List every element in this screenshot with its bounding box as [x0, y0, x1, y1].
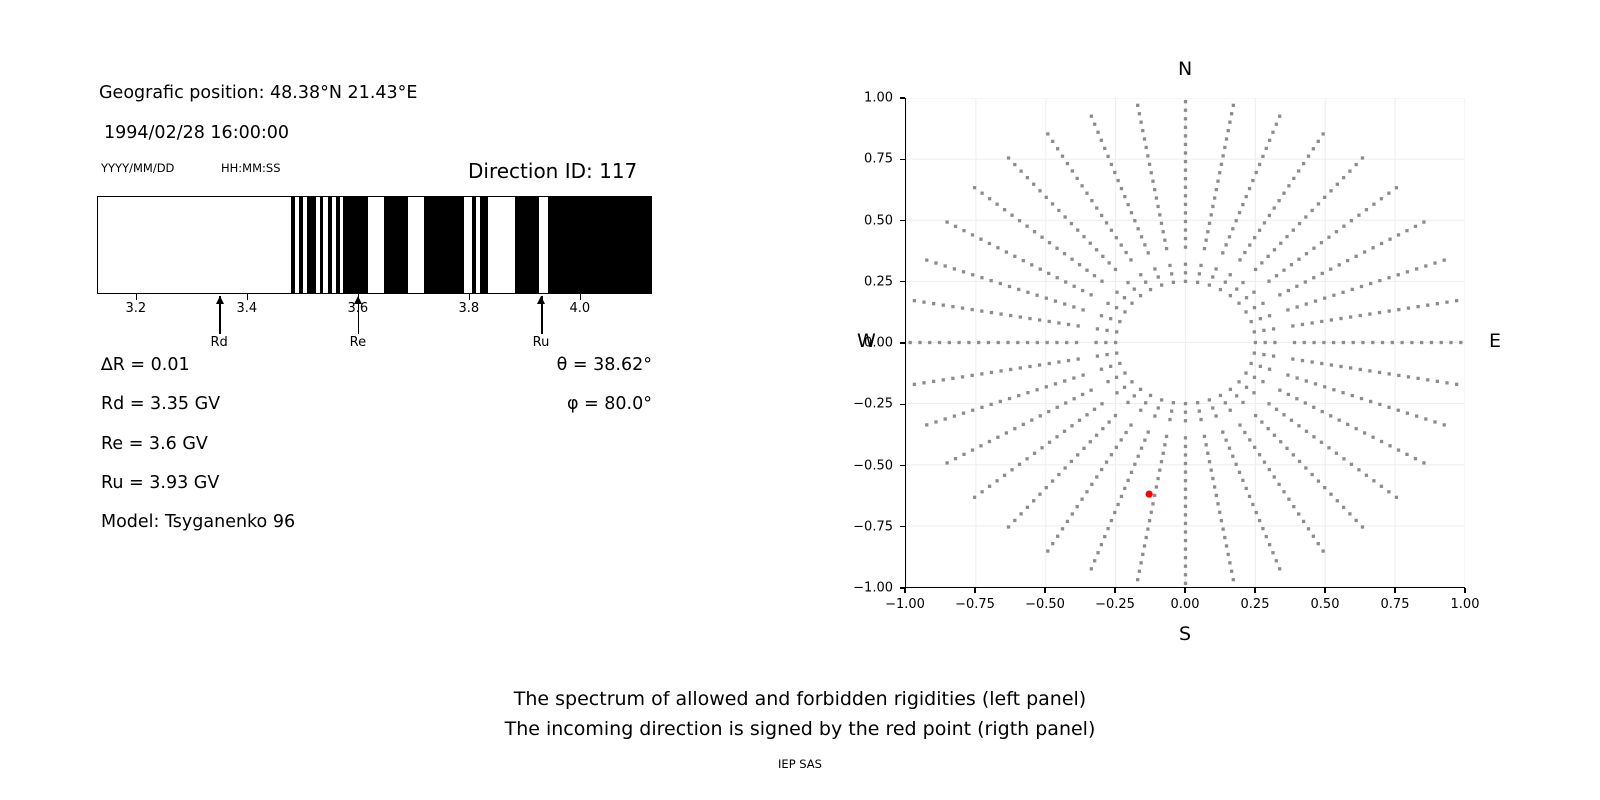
- direction-point: [1005, 250, 1008, 253]
- direction-point: [1100, 214, 1103, 217]
- direction-point: [1063, 430, 1066, 433]
- direction-point: [1115, 351, 1118, 354]
- direction-point: [1327, 236, 1330, 239]
- direction-point: [1388, 444, 1391, 447]
- direction-point: [1248, 243, 1251, 246]
- forbidden-band: [472, 196, 476, 294]
- direction-point: [1260, 420, 1263, 423]
- direction-point: [1258, 229, 1261, 232]
- direction-point: [1146, 154, 1149, 157]
- direction-point: [1320, 441, 1323, 444]
- direction-point: [1275, 274, 1278, 277]
- direction-point: [1228, 561, 1231, 564]
- direction-point: [1066, 520, 1069, 523]
- direction-point: [999, 369, 1002, 372]
- direction-point: [1013, 427, 1016, 430]
- x-axis-tick-label: 0.75: [1381, 597, 1410, 612]
- direction-point: [1140, 447, 1143, 450]
- direction-point: [1369, 282, 1372, 285]
- direction-point: [989, 279, 992, 282]
- direction-point: [1322, 132, 1325, 135]
- direction-point: [1397, 409, 1400, 412]
- direction-point: [1184, 453, 1187, 456]
- direction-point: [1172, 401, 1175, 404]
- direction-point: [1198, 272, 1201, 275]
- spectrum-axis-tick-label: 3.4: [237, 301, 258, 316]
- direction-point: [1245, 195, 1248, 198]
- direction-point: [999, 312, 1002, 315]
- direction-point: [1317, 140, 1320, 143]
- direction-point: [1305, 302, 1308, 305]
- direction-point: [932, 380, 935, 383]
- direction-point: [1221, 527, 1224, 530]
- direction-point: [1184, 134, 1187, 137]
- direction-point: [1406, 270, 1409, 273]
- direction-point: [1133, 219, 1136, 222]
- direction-point: [1136, 578, 1139, 581]
- direction-point: [1103, 535, 1106, 538]
- direction-point: [1139, 121, 1142, 124]
- direction-point: [1116, 503, 1119, 506]
- direction-point: [1445, 301, 1448, 304]
- direction-point: [1144, 281, 1147, 284]
- direction-point: [1302, 162, 1305, 165]
- direction-point: [1219, 394, 1222, 397]
- direction-point: [1151, 502, 1154, 505]
- direction-point: [1355, 427, 1358, 430]
- direction-point: [1342, 176, 1345, 179]
- direction-point: [1225, 137, 1228, 140]
- direction-point: [1093, 123, 1096, 126]
- direction-point: [1130, 302, 1133, 305]
- direction-point: [1090, 199, 1093, 202]
- direction-point: [1310, 321, 1313, 324]
- spectrum-axis-tick-label: 3.2: [126, 301, 147, 316]
- direction-point: [1317, 542, 1320, 545]
- direction-point: [1017, 288, 1020, 291]
- direction-point: [1143, 544, 1146, 547]
- direction-point: [1245, 296, 1248, 299]
- direction-point: [1100, 139, 1103, 142]
- direction-point: [1290, 263, 1293, 266]
- direction-point: [1365, 474, 1368, 477]
- direction-point: [1095, 248, 1098, 251]
- direction-point: [1045, 486, 1048, 489]
- direction-point: [1032, 183, 1035, 186]
- direction-point: [1254, 414, 1257, 417]
- direction-point: [1124, 431, 1127, 434]
- spectrum-axis-tick-label: 4.0: [570, 301, 591, 316]
- direction-point: [1291, 357, 1294, 360]
- direction-point: [1304, 466, 1307, 469]
- direction-point: [1019, 366, 1022, 369]
- direction-point: [1046, 549, 1049, 552]
- direction-point: [1405, 229, 1408, 232]
- direction-point: [1282, 413, 1285, 416]
- direction-point: [1155, 485, 1158, 488]
- direction-point: [1388, 238, 1391, 241]
- direction-point: [1090, 483, 1093, 486]
- direction-point: [1223, 536, 1226, 539]
- direction-point: [1211, 205, 1214, 208]
- direction-point: [1151, 180, 1154, 183]
- direction-point: [922, 381, 925, 384]
- direction-point: [1341, 291, 1344, 294]
- direction-point: [1320, 320, 1323, 323]
- direction-point: [1290, 419, 1293, 422]
- x-axis-tick: [974, 588, 975, 593]
- direction-point: [1184, 573, 1187, 576]
- direction-point: [1332, 294, 1335, 297]
- x-axis-tick: [1464, 588, 1465, 593]
- direction-point: [1056, 276, 1059, 279]
- direction-point: [1329, 414, 1332, 417]
- direction-point: [1216, 502, 1219, 505]
- direction-point: [1009, 368, 1012, 371]
- direction-point: [1100, 280, 1103, 283]
- direction-point: [1039, 268, 1042, 271]
- direction-point: [1170, 409, 1173, 412]
- direction-point: [999, 400, 1002, 403]
- direction-point: [1066, 162, 1069, 165]
- y-axis-tick: [900, 526, 905, 527]
- direction-point: [1250, 320, 1253, 323]
- direction-point: [1147, 251, 1150, 254]
- direction-point: [1298, 460, 1301, 463]
- direction-point: [1022, 259, 1025, 262]
- direction-point: [980, 192, 983, 195]
- direction-point: [1268, 368, 1271, 371]
- direction-point: [1229, 294, 1232, 297]
- direction-point: [1208, 222, 1211, 225]
- direction-point: [1184, 263, 1187, 266]
- compass-label-east: E: [1489, 330, 1501, 352]
- direction-point: [1297, 512, 1300, 515]
- direction-point: [1184, 411, 1187, 414]
- direction-point: [962, 270, 965, 273]
- direction-point: [1067, 323, 1070, 326]
- direction-point: [1047, 272, 1050, 275]
- direction-point: [1263, 460, 1266, 463]
- direction-point: [1395, 186, 1398, 189]
- direction-point: [1237, 380, 1240, 383]
- direction-point: [1238, 471, 1241, 474]
- y-axis-tick-label: 0.75: [827, 152, 893, 167]
- direction-point: [1416, 377, 1419, 380]
- direction-point: [961, 375, 964, 378]
- direction-point: [1397, 233, 1400, 236]
- direction-point: [1080, 498, 1083, 501]
- direction-point: [987, 341, 990, 344]
- direction-point: [1388, 372, 1391, 375]
- marker-label: Ru: [533, 335, 550, 350]
- direction-point: [1235, 394, 1238, 397]
- direction-point: [1055, 435, 1058, 438]
- direction-point: [1415, 414, 1418, 417]
- direction-point: [1243, 251, 1246, 254]
- direction-point: [1055, 247, 1058, 250]
- direction-point: [1287, 184, 1290, 187]
- direction-point: [1168, 418, 1171, 421]
- direction-point: [1298, 222, 1301, 225]
- direction-point: [1139, 561, 1142, 564]
- direction-point: [1115, 391, 1118, 394]
- direction-point: [1071, 169, 1074, 172]
- direction-point: [1301, 359, 1304, 362]
- time-format-hint: HH:MM:SS: [221, 161, 281, 175]
- forbidden-band: [299, 196, 303, 294]
- direction-point: [1018, 463, 1021, 466]
- direction-point: [948, 341, 951, 344]
- param-theta: θ = 38.62°: [557, 355, 652, 375]
- direction-point: [1063, 252, 1066, 255]
- direction-point: [1238, 423, 1241, 426]
- direction-point: [1040, 446, 1043, 449]
- direction-point: [1339, 317, 1342, 320]
- direction-point: [1072, 376, 1075, 379]
- direction-point: [1252, 391, 1255, 394]
- direction-point: [1245, 386, 1248, 389]
- direction-point: [988, 242, 991, 245]
- direction-point: [1081, 373, 1084, 376]
- direction-point: [996, 436, 999, 439]
- direction-point: [1265, 147, 1268, 150]
- x-axis-tick: [1324, 588, 1325, 593]
- direction-point: [1081, 308, 1084, 311]
- direction-point: [1268, 214, 1271, 217]
- direction-point: [1118, 362, 1121, 365]
- direction-point: [1070, 460, 1073, 463]
- direction-point: [1198, 409, 1201, 412]
- direction-point: [1282, 490, 1285, 493]
- direction-point: [1003, 208, 1006, 211]
- direction-point: [1229, 388, 1232, 391]
- direction-point: [1107, 420, 1110, 423]
- direction-point: [1253, 351, 1256, 354]
- direction-point: [1026, 391, 1029, 394]
- direction-point: [1235, 463, 1238, 466]
- y-axis-tick: [900, 465, 905, 466]
- direction-point: [951, 305, 954, 308]
- y-axis-tick-label: −0.25: [827, 397, 893, 412]
- x-axis-tick-label: −0.25: [1095, 597, 1135, 612]
- direction-point: [1155, 196, 1158, 199]
- direction-point: [1095, 206, 1098, 209]
- direction-point: [1035, 294, 1038, 297]
- direction-point: [945, 220, 948, 223]
- direction-point: [1184, 194, 1187, 197]
- direction-point: [1321, 410, 1324, 413]
- direction-point: [1378, 311, 1381, 314]
- forbidden-band: [384, 196, 408, 294]
- direction-point: [962, 453, 965, 456]
- direction-point: [1184, 547, 1187, 550]
- direction-point: [1184, 402, 1187, 405]
- direction-point: [1368, 369, 1371, 372]
- direction-point: [1106, 155, 1109, 158]
- direction-point: [1275, 559, 1278, 562]
- direction-point: [1126, 479, 1129, 482]
- direction-point: [1262, 353, 1265, 356]
- direction-point: [1433, 420, 1436, 423]
- direction-point: [1089, 242, 1092, 245]
- direction-point: [1230, 112, 1233, 115]
- direction-point: [1013, 163, 1016, 166]
- arrow-up-icon: [537, 296, 545, 304]
- direction-point: [1073, 397, 1076, 400]
- direction-point: [1090, 567, 1093, 570]
- direction-point: [1033, 230, 1036, 233]
- direction-point: [1165, 435, 1168, 438]
- x-axis-tick: [904, 588, 905, 593]
- direction-point: [1115, 446, 1118, 449]
- direction-point: [1093, 559, 1096, 562]
- direction-point: [1459, 341, 1462, 344]
- direction-point: [967, 341, 970, 344]
- direction-point: [944, 264, 947, 267]
- forbidden-band: [320, 196, 324, 294]
- direction-point: [1136, 104, 1139, 107]
- direction-point: [1085, 413, 1088, 416]
- direction-point: [1160, 398, 1163, 401]
- direction-point: [1332, 341, 1335, 344]
- direction-point: [1157, 406, 1160, 409]
- direction-point: [1311, 473, 1314, 476]
- direction-point: [1346, 423, 1349, 426]
- direction-point: [1312, 406, 1315, 409]
- direction-point: [932, 302, 935, 305]
- direction-point: [1072, 305, 1075, 308]
- direction-point: [1150, 511, 1153, 514]
- direction-point: [1388, 309, 1391, 312]
- direction-point: [1076, 453, 1079, 456]
- y-axis-tick: [900, 404, 905, 405]
- direction-point: [957, 341, 960, 344]
- direction-point: [1292, 505, 1295, 508]
- direction-point: [1342, 225, 1345, 228]
- direction-point: [961, 306, 964, 309]
- direction-point: [1229, 273, 1232, 276]
- direction-point: [1223, 146, 1226, 149]
- direction-point: [1307, 155, 1310, 158]
- direction-point: [1133, 463, 1136, 466]
- direction-point: [1168, 264, 1171, 267]
- direction-point: [1254, 341, 1257, 344]
- direction-point: [1170, 272, 1173, 275]
- direction-point: [1184, 117, 1187, 120]
- direction-point: [1123, 371, 1126, 374]
- y-axis-tick-label: −1.00: [827, 581, 893, 596]
- direction-point: [1056, 535, 1059, 538]
- direction-point: [1378, 371, 1381, 374]
- direction-point: [1213, 196, 1216, 199]
- direction-point: [1371, 436, 1374, 439]
- direction-point: [1265, 535, 1268, 538]
- direction-point: [1278, 567, 1281, 570]
- direction-point: [1123, 195, 1126, 198]
- direction-point: [1350, 463, 1353, 466]
- direction-point: [1275, 123, 1278, 126]
- direction-point: [1146, 527, 1149, 530]
- direction-point: [1063, 379, 1066, 382]
- direction-point: [1078, 419, 1081, 422]
- direction-point: [945, 461, 948, 464]
- y-axis-tick-label: 0.25: [827, 274, 893, 289]
- compass-label-south: S: [1179, 623, 1191, 645]
- direction-point: [1372, 479, 1375, 482]
- direction-point: [1184, 488, 1187, 491]
- direction-point: [1025, 225, 1028, 228]
- direction-point: [1115, 376, 1118, 379]
- y-axis-tick: [900, 97, 905, 98]
- direction-point: [1184, 271, 1187, 274]
- direction-point: [1208, 460, 1211, 463]
- direction-point: [953, 267, 956, 270]
- direction-point: [1330, 318, 1333, 321]
- direction-point: [1138, 112, 1141, 115]
- direction-point: [1077, 324, 1080, 327]
- y-axis-tick-label: 0.50: [827, 213, 893, 228]
- direction-point: [1268, 139, 1271, 142]
- geographic-position-label: Geografic position: 48.38°N 21.43°E: [99, 83, 417, 103]
- direction-point: [971, 448, 974, 451]
- direction-point: [1082, 235, 1085, 238]
- direction-point: [1184, 151, 1187, 154]
- direction-point: [1371, 341, 1374, 344]
- direction-point: [1073, 285, 1076, 288]
- direction-point: [1258, 519, 1261, 522]
- direction-point: [1105, 221, 1108, 224]
- rigidity-spectrum-panel: Geografic position: 48.38°N 21.43°E 1994…: [0, 0, 720, 620]
- direction-point: [1397, 308, 1400, 311]
- direction-point: [1414, 457, 1417, 460]
- direction-point: [1137, 227, 1140, 230]
- direction-point: [1272, 354, 1275, 357]
- direction-point: [1357, 468, 1360, 471]
- direction-point: [1241, 203, 1244, 206]
- direction-point: [1341, 391, 1344, 394]
- direction-point: [1057, 360, 1060, 363]
- direction-point: [1363, 250, 1366, 253]
- direction-point: [1422, 220, 1425, 223]
- direction-point: [1287, 289, 1290, 292]
- direction-point: [1231, 227, 1234, 230]
- direction-point: [1387, 406, 1390, 409]
- direction-point: [1251, 503, 1254, 506]
- direction-point: [1210, 213, 1213, 216]
- direction-point: [1260, 261, 1263, 264]
- direction-point: [1235, 287, 1238, 290]
- x-axis-tick-label: 0.50: [1311, 597, 1340, 612]
- direction-point: [1244, 310, 1247, 313]
- direction-point: [1295, 397, 1298, 400]
- direction-point: [1424, 417, 1427, 420]
- direction-point: [1129, 258, 1132, 261]
- direction-point: [1028, 317, 1031, 320]
- direction-point: [1019, 512, 1022, 515]
- direction-point: [1433, 261, 1436, 264]
- direction-point: [1380, 440, 1383, 443]
- direction-point: [1184, 109, 1187, 112]
- caption-line-2: The incoming direction is signed by the …: [0, 718, 1600, 740]
- direction-point: [1093, 274, 1096, 277]
- direction-point: [1096, 327, 1099, 330]
- forbidden-band: [343, 196, 367, 294]
- direction-point: [1110, 229, 1113, 232]
- direction-point: [913, 383, 916, 386]
- direction-point: [1312, 147, 1315, 150]
- direction-point: [1025, 457, 1028, 460]
